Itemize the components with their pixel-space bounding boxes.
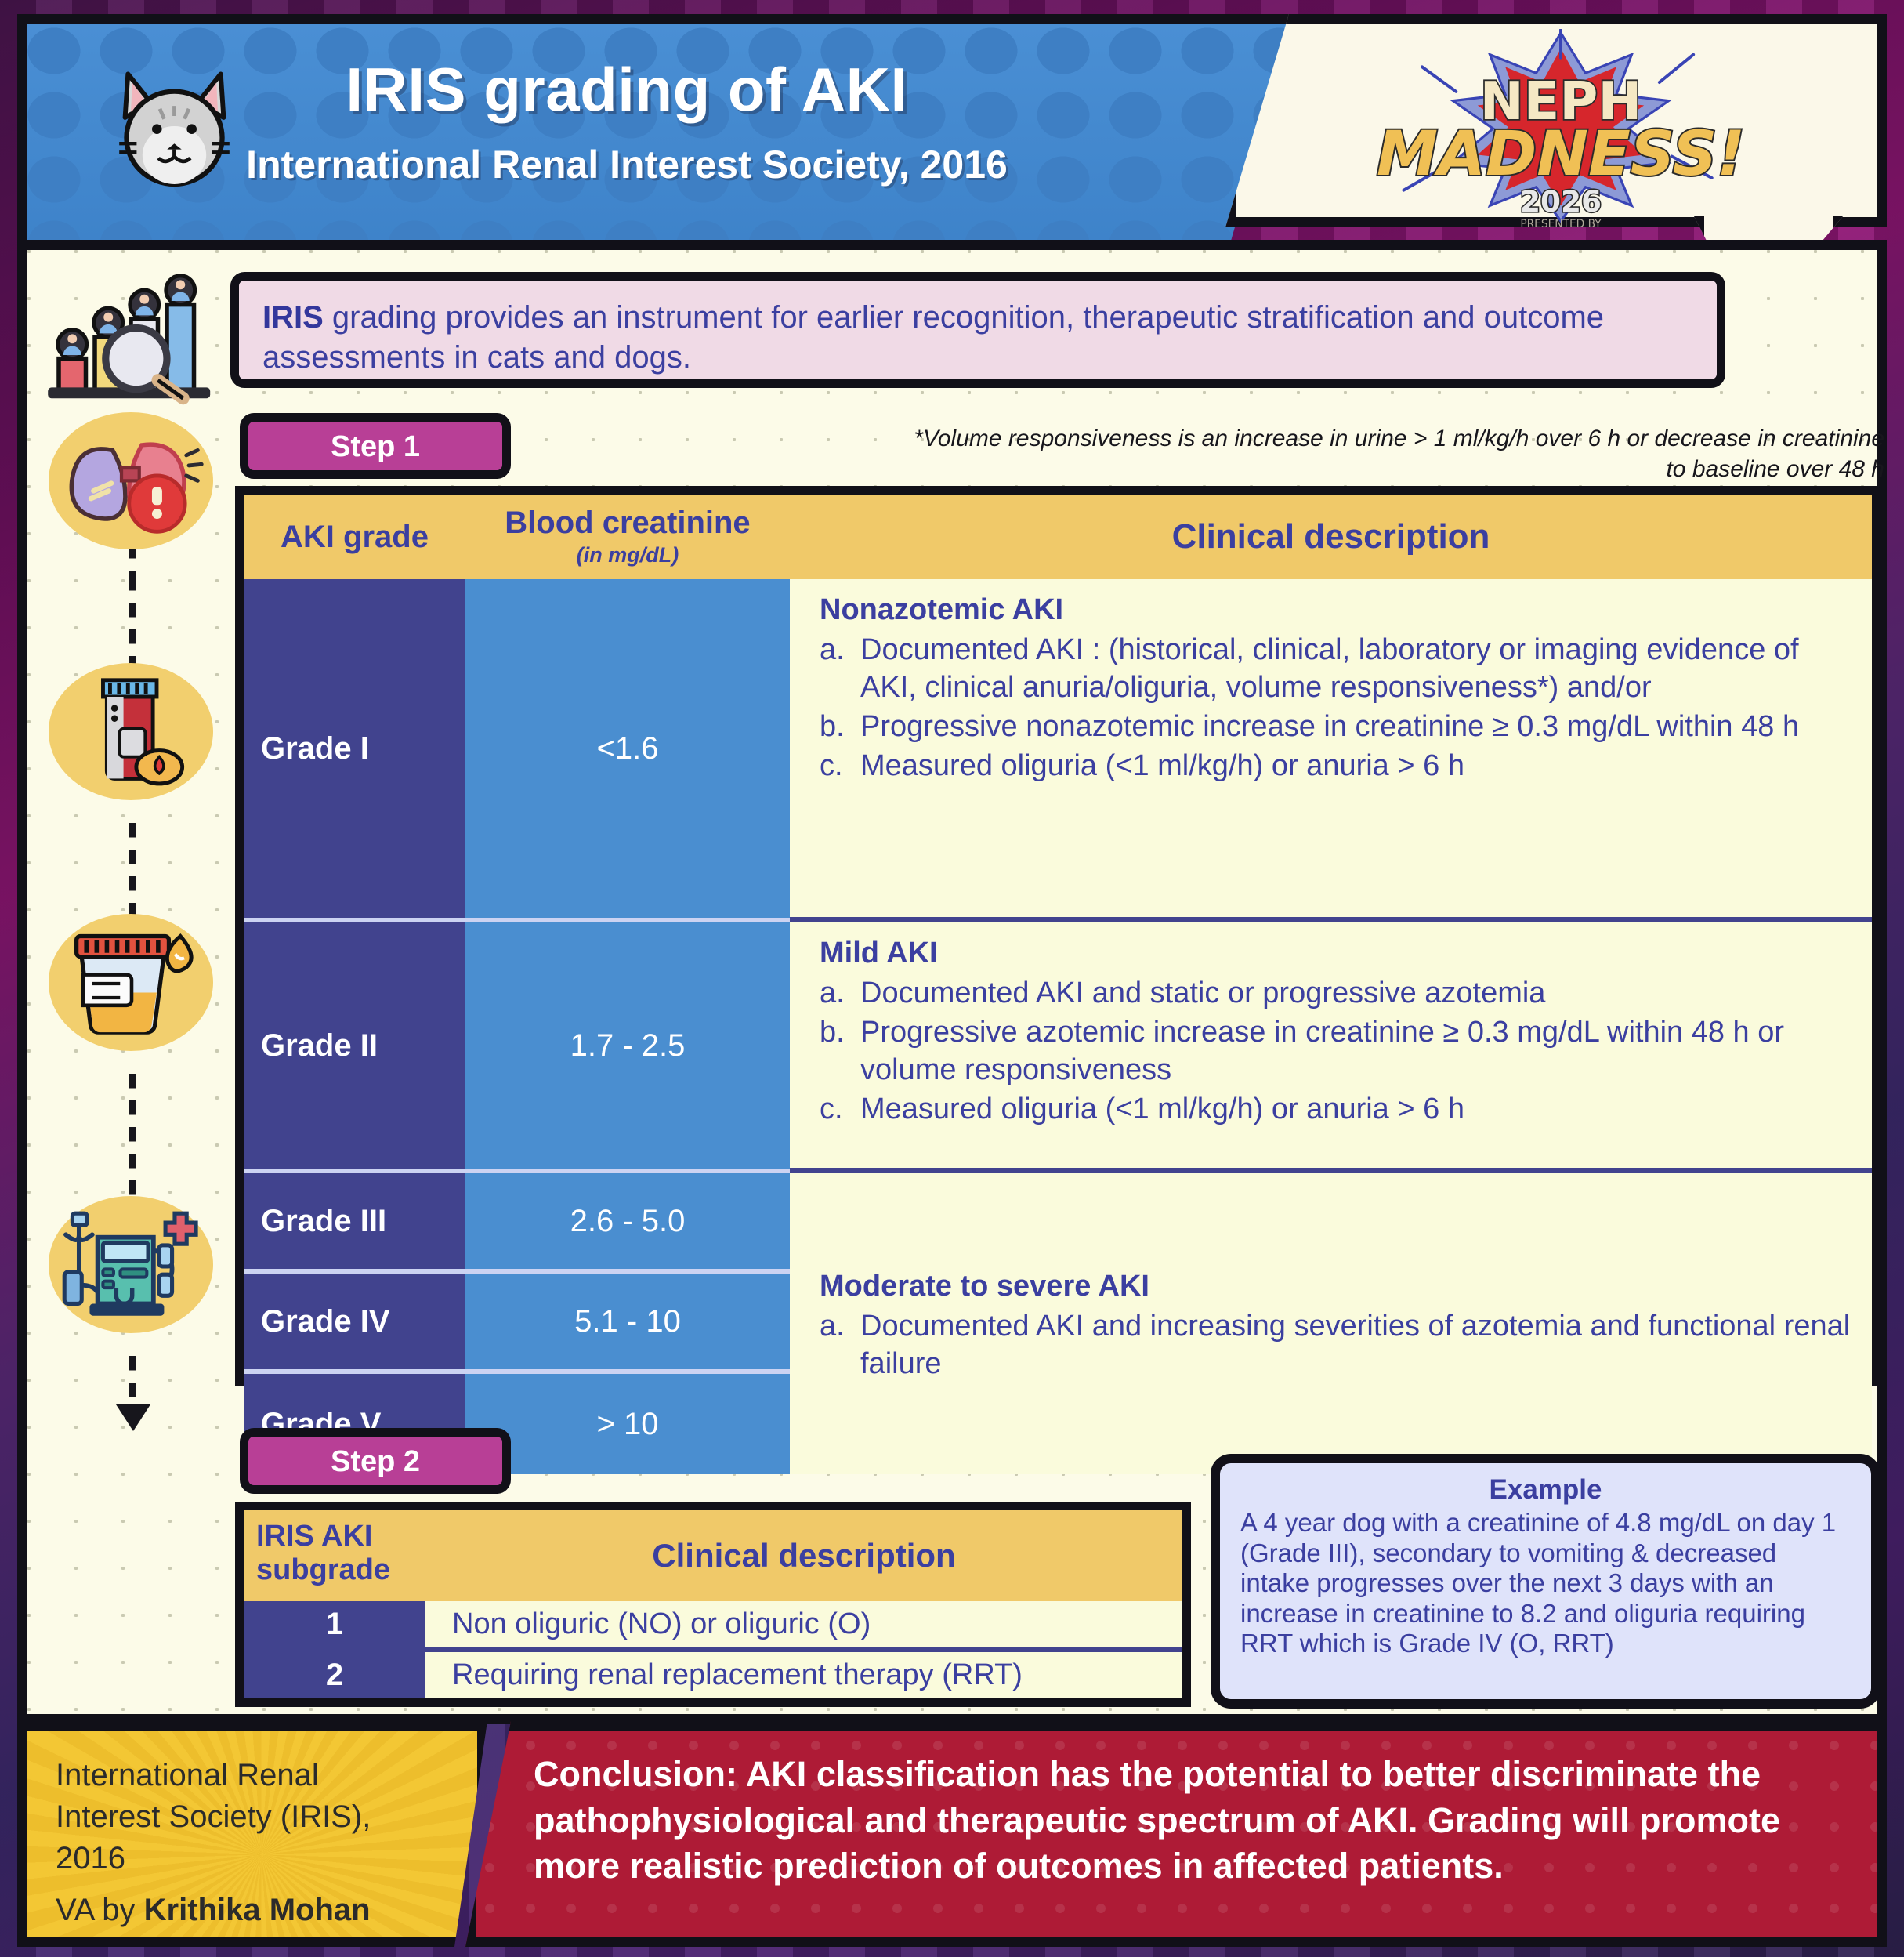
kidney-alert-glyph <box>55 425 208 539</box>
table-row: 2 Requiring renal replacement therapy (R… <box>244 1652 1182 1698</box>
column-header-creatinine: Blood creatinine (in mg/dL) <box>465 495 790 579</box>
process-rail <box>41 259 221 1716</box>
grade-column: Grade I Grade II Grade III Grade IV Grad… <box>244 579 465 1474</box>
list-item: a.Documented AKI : (historical, clinical… <box>820 632 1852 707</box>
svg-text:2026: 2026 <box>1520 184 1602 219</box>
source-line-2: Interest Society (IRIS), <box>56 1796 477 1838</box>
subgrade-number: 2 <box>244 1652 425 1698</box>
column-header-subgrade: IRIS AKI subgrade <box>244 1510 425 1601</box>
list-text: Progressive nonazotemic increase in crea… <box>860 710 1799 743</box>
column-header-subgrade-line1: IRIS AKI <box>256 1520 425 1553</box>
rrt-machine-glyph <box>56 1205 205 1328</box>
step-2-badge[interactable]: Step 2 <box>240 1428 511 1494</box>
volume-responsiveness-footnote: *Volume responsiveness is an increase in… <box>901 423 1884 484</box>
nephmadness-logo-icon: NEPH MADNESS! 2026 PRESENTED BY <box>1330 29 1792 231</box>
list-item: c.Measured oliguria (<1 ml/kg/h) or anur… <box>820 1091 1852 1129</box>
column-header-subgrade-line2: subgrade <box>256 1553 425 1587</box>
column-header-subgrade-description: Clinical description <box>425 1510 1182 1601</box>
example-title: Example <box>1240 1474 1851 1506</box>
rail-connector <box>129 1356 136 1407</box>
urine-cup-glyph <box>61 925 202 1042</box>
column-header-creatinine-unit: (in mg/dL) <box>577 543 679 567</box>
list-text: Measured oliguria (<1 ml/kg/h) or anuria… <box>860 749 1464 782</box>
cat-icon <box>102 52 247 201</box>
table-body: Grade I Grade II Grade III Grade IV Grad… <box>244 579 1872 1474</box>
table-cell-creatinine: <1.6 <box>465 579 790 922</box>
description-block-mild: Mild AKI a.Documented AKI and static or … <box>790 922 1872 1173</box>
rail-connector <box>129 1074 136 1199</box>
blood-test-icon <box>41 658 221 815</box>
list-marker: b. <box>820 1014 860 1052</box>
poster-root: IRIS grading of AKI International Renal … <box>0 0 1904 1957</box>
conclusion-banner: Conclusion: AKI classification has the p… <box>465 1721 1887 1947</box>
description-title: Moderate to severe AKI <box>820 1270 1852 1303</box>
footer: International Renal Interest Society (IR… <box>17 1721 1887 1947</box>
description-block-moderate-severe: Moderate to severe AKI a.Documented AKI … <box>790 1173 1872 1474</box>
header: IRIS grading of AKI International Renal … <box>17 14 1887 266</box>
creatinine-column: <1.6 1.7 - 2.5 2.6 - 5.0 5.1 - 10 > 10 <box>465 579 790 1474</box>
dialysis-machine-icon <box>41 1191 221 1348</box>
intro-callout: IRIS grading provides an instrument for … <box>230 272 1725 388</box>
table-row: Grade IV <box>244 1274 465 1374</box>
table-cell-creatinine: 1.7 - 2.5 <box>465 922 790 1173</box>
rail-arrow-icon <box>116 1404 150 1431</box>
table-header-row: AKI grade Blood creatinine (in mg/dL) Cl… <box>244 495 1872 579</box>
column-header-description: Clinical description <box>790 495 1872 579</box>
rail-connector <box>129 823 136 917</box>
source-line-1: International Renal <box>56 1755 477 1796</box>
list-marker: b. <box>820 709 860 746</box>
intro-text: grading provides an instrument for earli… <box>262 300 1604 375</box>
list-item: a.Documented AKI and increasing severiti… <box>820 1308 1852 1383</box>
example-text: A 4 year dog with a creatinine of 4.8 mg… <box>1240 1508 1851 1659</box>
table-cell-creatinine: 2.6 - 5.0 <box>465 1173 790 1274</box>
list-item: a.Documented AKI and static or progressi… <box>820 975 1852 1013</box>
iris-subgrade-table: IRIS AKI subgrade Clinical description 1… <box>235 1502 1191 1707</box>
aki-grading-table: AKI grade Blood creatinine (in mg/dL) Cl… <box>235 486 1880 1386</box>
table-row: Grade I <box>244 579 465 922</box>
list-text: Progressive azotemic increase in creatin… <box>860 1016 1784 1086</box>
list-marker: c. <box>820 748 860 785</box>
list-marker: c. <box>820 1091 860 1129</box>
description-title: Mild AKI <box>820 937 1852 970</box>
list-text: Documented AKI : (historical, clinical, … <box>860 633 1799 704</box>
source-attribution: International Renal Interest Society (IR… <box>17 1721 487 1947</box>
subgrade-header-row: IRIS AKI subgrade Clinical description <box>244 1510 1182 1601</box>
table-cell-creatinine: > 10 <box>465 1374 790 1474</box>
list-item: b.Progressive azotemic increase in creat… <box>820 1014 1852 1089</box>
subgrade-description: Non oliguric (NO) or oliguric (O) <box>425 1601 1182 1647</box>
credit-name: Krithika Mohan <box>144 1893 371 1927</box>
column-header-creatinine-label: Blood creatinine <box>505 507 750 538</box>
example-box: Example A 4 year dog with a creatinine o… <box>1211 1454 1880 1709</box>
table-row: Grade III <box>244 1173 465 1274</box>
subgrade-number: 1 <box>244 1601 425 1647</box>
rail-connector <box>129 576 136 670</box>
list-text: Documented AKI and increasing severities… <box>860 1310 1850 1380</box>
table-cell-creatinine: 5.1 - 10 <box>465 1274 790 1374</box>
header-banner: IRIS grading of AKI International Renal … <box>17 14 1298 266</box>
table-row: Grade II <box>244 922 465 1173</box>
credit: VA by Krithika Mohan <box>56 1890 477 1931</box>
blood-tube-glyph <box>74 672 191 794</box>
description-title: Nonazotemic AKI <box>820 593 1852 627</box>
list-text: Measured oliguria (<1 ml/kg/h) or anuria… <box>860 1093 1464 1125</box>
kidney-injury-icon <box>41 408 221 564</box>
urine-output-icon <box>41 909 221 1066</box>
list-marker: a. <box>820 632 860 669</box>
description-block-nonazotemic: Nonazotemic AKI a.Documented AKI : (hist… <box>790 579 1872 922</box>
nephmadness-logo-panel: NEPH MADNESS! 2026 PRESENTED BY <box>1225 14 1887 227</box>
svg-text:PRESENTED BY: PRESENTED BY <box>1520 218 1602 230</box>
intro-lead: IRIS <box>262 300 324 335</box>
population-analysis-icon <box>41 259 221 415</box>
list-item: c.Measured oliguria (<1 ml/kg/h) or anur… <box>820 748 1852 785</box>
credit-prefix: VA by <box>56 1893 144 1927</box>
list-marker: a. <box>820 1308 860 1346</box>
list-marker: a. <box>820 975 860 1013</box>
column-header-grade: AKI grade <box>244 495 465 579</box>
source-line-3: 2016 <box>56 1838 477 1879</box>
svg-text:MADNESS!: MADNESS! <box>1377 118 1745 190</box>
list-item: b.Progressive nonazotemic increase in cr… <box>820 709 1852 746</box>
step-1-badge[interactable]: Step 1 <box>240 413 511 479</box>
table-row: 1 Non oliguric (NO) or oliguric (O) <box>244 1601 1182 1652</box>
list-text: Documented AKI and static or progressive… <box>860 977 1545 1009</box>
description-column: Nonazotemic AKI a.Documented AKI : (hist… <box>790 579 1872 1474</box>
subgrade-description: Requiring renal replacement therapy (RRT… <box>425 1652 1182 1698</box>
